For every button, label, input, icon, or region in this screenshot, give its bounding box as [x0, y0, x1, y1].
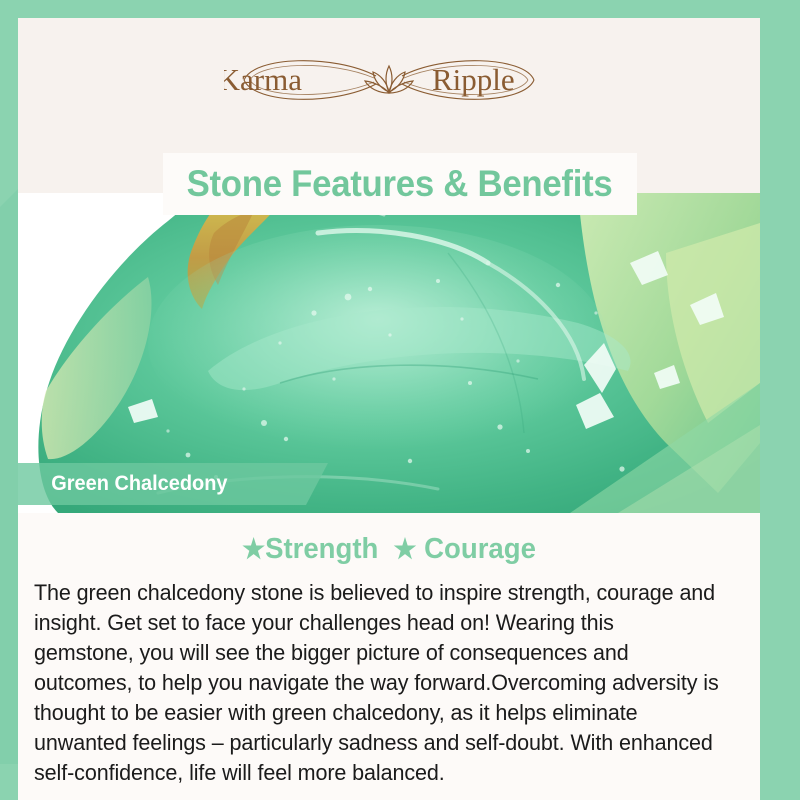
- poster: Karma Ripple: [0, 0, 800, 800]
- stone-name-banner: Green Chalcedony: [18, 463, 328, 505]
- keyword-row: ★ Strength ★ Courage: [37, 533, 742, 566]
- page-title: Stone Features & Benefits: [187, 163, 613, 205]
- keyword-strength-label: Strength: [265, 533, 378, 566]
- star-icon: ★: [394, 536, 417, 563]
- brand-name-right: Ripple: [432, 62, 515, 97]
- description-paragraph: The green chalcedony stone is believed t…: [34, 578, 719, 788]
- lotus-infinity-emblem-icon: Karma Ripple: [224, 48, 554, 112]
- page-surface: Karma Ripple: [18, 18, 760, 800]
- keyword-courage-label: Courage: [424, 533, 536, 566]
- brand-logo[interactable]: Karma Ripple: [224, 48, 554, 112]
- keyword-courage: ★ Courage: [394, 533, 536, 566]
- brand-name-left: Karma: [224, 62, 302, 97]
- title-banner: Stone Features & Benefits: [163, 153, 637, 215]
- star-icon: ★: [242, 536, 265, 563]
- keyword-strength: ★ Strength: [242, 533, 378, 566]
- header: Karma Ripple: [18, 18, 760, 130]
- stone-name-label: Green Chalcedony: [18, 472, 228, 496]
- frame-right-band: [760, 0, 800, 800]
- content-section: ★ Strength ★ Courage The green chalcedon…: [18, 513, 760, 800]
- frame-top-band: [0, 0, 800, 18]
